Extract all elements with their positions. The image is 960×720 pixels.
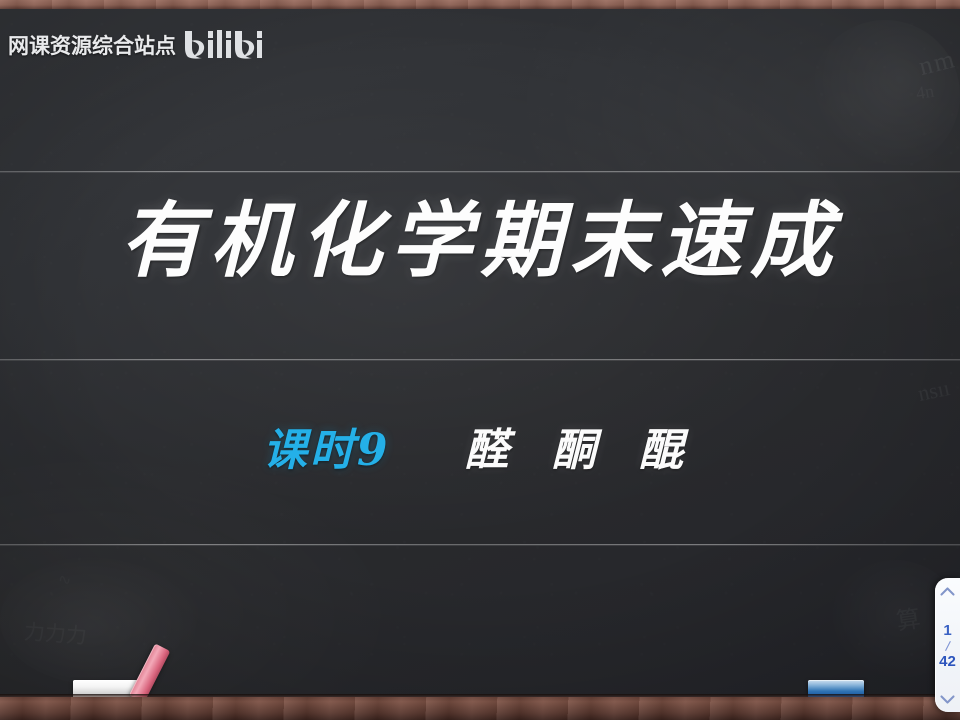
board-frame-top	[0, 0, 960, 9]
page-separator: /	[944, 638, 951, 653]
chalk-rule-line-3	[0, 544, 960, 545]
current-page-number[interactable]: 1	[943, 623, 951, 638]
chevron-down-icon[interactable]	[937, 691, 959, 708]
chalk-rule-line-1	[0, 171, 960, 172]
chalk-dust-texture	[0, 9, 960, 697]
chalk-rule-line-2	[0, 359, 960, 360]
slide-subtitle-row: 课时9 醛 酮 醌	[0, 414, 960, 478]
chevron-up-icon[interactable]	[937, 583, 959, 600]
lesson-number-label: 课时9	[263, 414, 391, 478]
total-page-count: 42	[939, 654, 956, 669]
page-navigator[interactable]: 1 / 42	[935, 578, 960, 712]
slide-main-title: 有机化学期末速成	[0, 196, 960, 288]
lesson-topic-label: 醛 酮 醌	[464, 414, 697, 478]
bilibili-logo-icon	[184, 28, 262, 62]
board-frame-bottom-tray	[0, 697, 960, 720]
blackboard-surface	[0, 9, 960, 697]
watermark-site-text: 网课资源综合站点	[8, 30, 176, 60]
page-counter[interactable]: 1 / 42	[939, 623, 956, 669]
watermark: 网课资源综合站点	[8, 28, 262, 62]
slide-stage: nm 4n nsıı 算 力力力 ∿ 网课资源综合站点	[0, 0, 960, 720]
